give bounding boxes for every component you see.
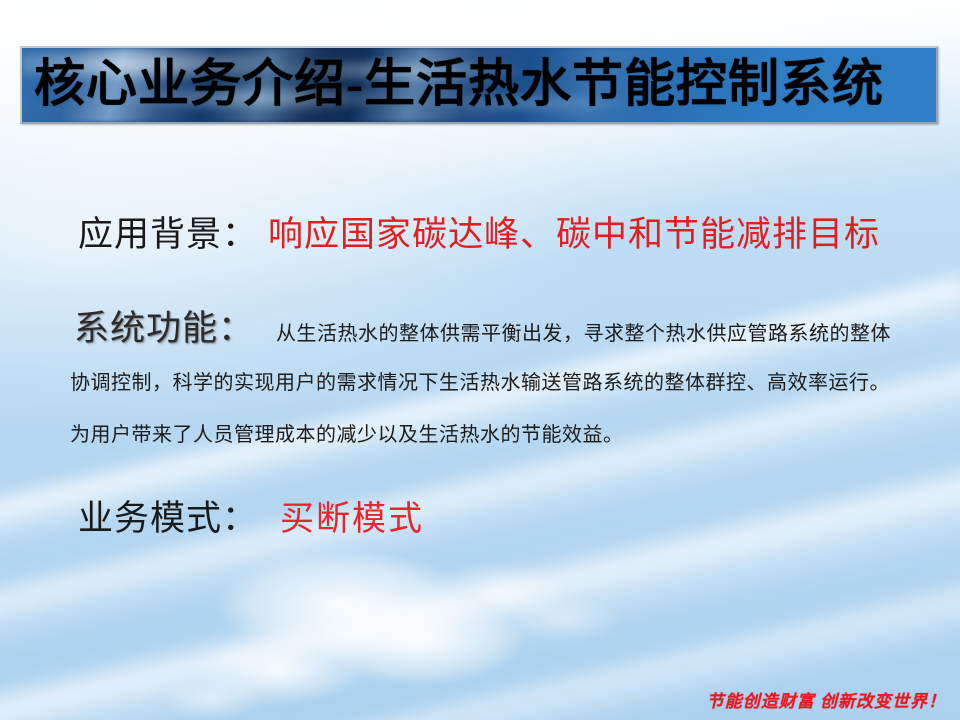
title-banner: 核心业务介绍-生活热水节能控制系统 bbox=[20, 46, 938, 124]
section-business-model: 业务模式： 买断模式 bbox=[78, 490, 424, 541]
system-function-line-2: 协调控制，科学的实现用户的需求情况下生活热水输送管路系统的整体群控、高效率运行。 bbox=[70, 366, 890, 395]
application-background-value: 响应国家碳达峰、碳中和节能减排目标 bbox=[268, 206, 880, 257]
system-function-line-1: 从生活热水的整体供需平衡出发，寻求整个热水供应管路系统的整体 bbox=[276, 317, 891, 346]
section-system-function: 系统功能： 从生活热水的整体供需平衡出发，寻求整个热水供应管路系统的整体 bbox=[74, 300, 891, 351]
system-function-line-2-row: 协调控制，科学的实现用户的需求情况下生活热水输送管路系统的整体群控、高效率运行。 bbox=[70, 366, 890, 395]
business-model-value: 买断模式 bbox=[280, 491, 424, 540]
application-background-label: 应用背景： bbox=[78, 206, 258, 257]
footer-slogan: 节能创造财富 创新改变世界！ bbox=[707, 687, 946, 712]
page-title: 核心业务介绍-生活热水节能控制系统 bbox=[22, 48, 936, 122]
system-function-line-3: 为用户带来了人员管理成本的减少以及生活热水的节能效益。 bbox=[70, 418, 624, 447]
business-model-label: 业务模式： bbox=[78, 490, 258, 541]
slide-canvas: 核心业务介绍-生活热水节能控制系统 应用背景： 响应国家碳达峰、碳中和节能减排目… bbox=[0, 0, 960, 720]
system-function-line-3-row: 为用户带来了人员管理成本的减少以及生活热水的节能效益。 bbox=[70, 418, 624, 447]
section-application-background: 应用背景： 响应国家碳达峰、碳中和节能减排目标 bbox=[78, 206, 880, 257]
system-function-label: 系统功能： bbox=[74, 300, 254, 351]
